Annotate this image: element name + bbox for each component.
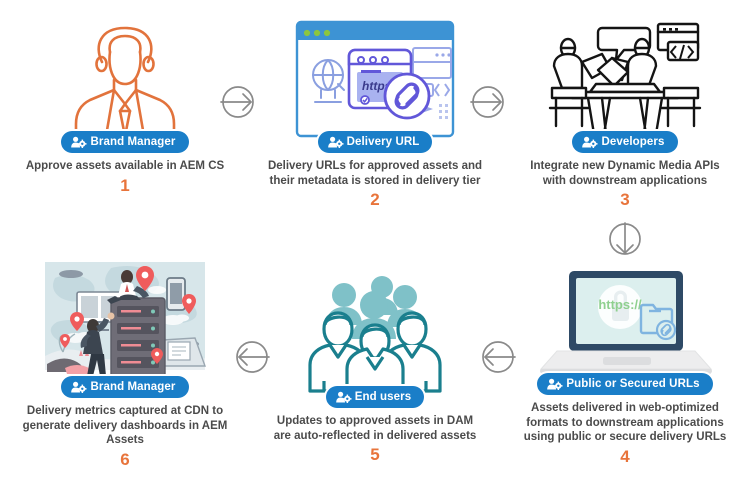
badge-label: Brand Manager	[90, 136, 175, 148]
number-step-1: 1	[120, 177, 129, 195]
number-step-3: 3	[620, 191, 629, 209]
number-step-5: 5	[370, 446, 379, 464]
step-cell-1: Brand Manager Approve assets available i…	[0, 0, 250, 250]
workflow-diagram: Brand Manager Approve assets available i…	[0, 0, 750, 500]
arrow-step2-to-step3	[468, 82, 508, 122]
badge-label: Developers	[601, 136, 664, 148]
badge-step-1[interactable]: Brand Manager	[61, 131, 188, 153]
workflow-step-6[interactable]: Brand Manager Delivery metrics captured …	[0, 265, 250, 469]
number-step-2: 2	[370, 191, 379, 209]
person-gear-icon	[71, 136, 86, 149]
workflow-step-4[interactable]: https://	[500, 262, 750, 466]
caption-step-3: Integrate new Dynamic Media APIs with do…	[518, 159, 733, 188]
caption-step-2: Delivery URLs for approved assets and th…	[268, 159, 483, 188]
badge-step-5[interactable]: End users	[326, 386, 425, 408]
caption-step-1: Approve assets available in AEM CS	[18, 159, 233, 174]
workflow-step-2[interactable]: https//	[250, 20, 500, 209]
badge-step-2[interactable]: Delivery URL	[318, 131, 433, 153]
step-cell-3: Developers Integrate new Dynamic Media A…	[500, 0, 750, 250]
arrow-step1-to-step2	[218, 82, 258, 122]
caption-step-5: Updates to approved assets in DAM are au…	[268, 414, 483, 443]
caption-step-4: Assets delivered in web-optimized format…	[518, 401, 733, 445]
badge-step-6[interactable]: Brand Manager	[61, 376, 188, 398]
badge-step-3[interactable]: Developers	[572, 131, 677, 153]
person-gear-icon	[328, 136, 343, 149]
browser-link-illustration: https//	[275, 20, 475, 140]
step-cell-2: https//	[250, 0, 500, 250]
number-step-6: 6	[120, 451, 129, 469]
workflow-row-bottom: Brand Manager Delivery metrics captured …	[0, 250, 750, 500]
group-of-users-illustration	[275, 275, 475, 395]
workflow-step-1[interactable]: Brand Manager Approve assets available i…	[0, 20, 250, 195]
badge-label: End users	[355, 391, 412, 403]
caption-step-6: Delivery metrics captured at CDN to gene…	[18, 404, 233, 448]
workflow-step-5[interactable]: End users Updates to approved assets in …	[250, 275, 500, 464]
step-cell-5: End users Updates to approved assets in …	[250, 250, 500, 500]
step-cell-4: https://	[500, 250, 750, 500]
number-step-4: 4	[620, 448, 629, 466]
person-gear-icon	[582, 136, 597, 149]
svg-text:https://: https://	[598, 297, 642, 312]
step-cell-6: Brand Manager Delivery metrics captured …	[0, 250, 250, 500]
person-gear-icon	[336, 391, 351, 404]
workflow-row-top: Brand Manager Approve assets available i…	[0, 0, 750, 250]
person-gear-icon	[547, 378, 562, 391]
person-gear-icon	[71, 381, 86, 394]
arrow-step5-to-step6	[232, 337, 272, 377]
badge-step-4[interactable]: Public or Secured URLs	[537, 373, 712, 395]
brand-manager-person-illustration	[25, 20, 225, 140]
developers-at-desk-illustration	[525, 20, 725, 140]
arrow-step4-to-step5	[478, 337, 518, 377]
laptop-https-lock-illustration: https://	[525, 262, 725, 382]
workflow-step-3[interactable]: Developers Integrate new Dynamic Media A…	[500, 20, 750, 209]
badge-label: Delivery URL	[347, 136, 420, 148]
badge-label: Public or Secured URLs	[566, 378, 699, 390]
badge-label: Brand Manager	[90, 381, 175, 393]
cdn-server-rack-illustration	[25, 265, 225, 385]
arrow-step3-to-step4	[605, 219, 645, 259]
